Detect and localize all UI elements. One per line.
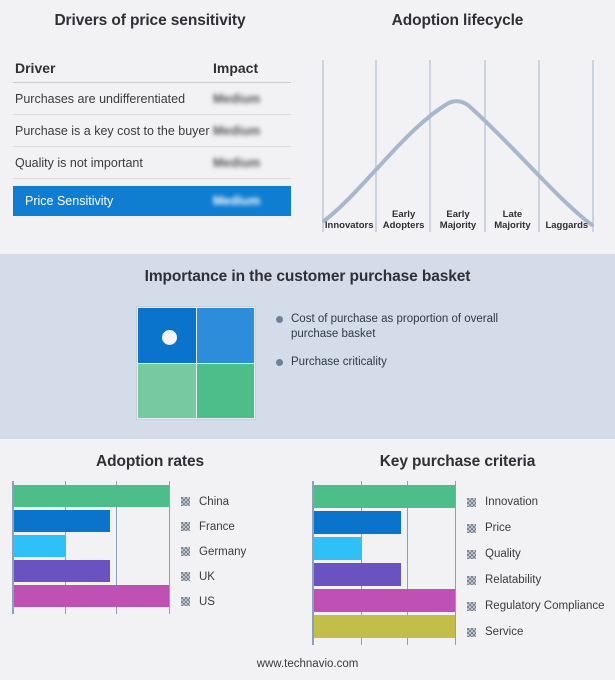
legend-swatch-icon: [467, 602, 476, 611]
basket-title: Importance in the customer purchase bask…: [0, 268, 615, 286]
legend-item[interactable]: Quality: [467, 541, 605, 567]
legend-item[interactable]: US: [181, 589, 288, 614]
bar[interactable]: [14, 510, 110, 532]
bar-row[interactable]: [314, 563, 455, 586]
key-purchase-criteria-title: Key purchase criteria: [300, 453, 615, 471]
legend-swatch-icon: [467, 628, 476, 637]
bar-row[interactable]: [14, 585, 169, 607]
legend-label: Price: [485, 522, 511, 534]
basket-legend-label: Purchase criticality: [291, 355, 387, 370]
legend-item[interactable]: Innovation: [467, 489, 605, 515]
legend-item[interactable]: Price: [467, 515, 605, 541]
bar[interactable]: [314, 615, 455, 638]
matrix-quadrant-bottom-left[interactable]: [138, 364, 196, 419]
cell-driver: Quality is not important: [15, 156, 213, 170]
bar-row[interactable]: [314, 589, 455, 612]
matrix-quadrant-top-left[interactable]: [138, 308, 196, 363]
bullet-dot-icon: [276, 316, 283, 323]
legend-label: Service: [485, 626, 523, 638]
bar[interactable]: [14, 560, 110, 582]
key-purchase-criteria-chart: InnovationPriceQualityRelatabilityRegula…: [312, 481, 604, 645]
lifecycle-stage-early-adopters: Early Adopters: [376, 198, 430, 232]
legend-label: Quality: [485, 548, 521, 560]
bar-row[interactable]: [314, 615, 455, 638]
drivers-title: Drivers of price sensitivity: [0, 12, 300, 30]
bar-row[interactable]: [14, 535, 169, 557]
legend-item[interactable]: Service: [467, 619, 605, 645]
legend-item[interactable]: France: [181, 514, 288, 539]
lifecycle-stage-late-majority: Late Majority: [485, 198, 539, 232]
lifecycle-stage-laggards: Laggards: [540, 198, 594, 232]
bar[interactable]: [314, 563, 401, 586]
bar[interactable]: [314, 511, 401, 534]
legend-item[interactable]: Regulatory Compliance: [467, 593, 605, 619]
legend-item[interactable]: UK: [181, 564, 288, 589]
legend-swatch-icon: [181, 522, 190, 531]
cell-driver: Price Sensitivity: [25, 194, 213, 208]
bar-row[interactable]: [314, 485, 455, 508]
legend-label: Germany: [199, 546, 246, 558]
legend-label: Innovation: [485, 496, 538, 508]
cell-impact: Medium: [213, 194, 289, 208]
adoption-rates-panel: Adoption rates ChinaFranceGermanyUKUS: [0, 439, 300, 680]
legend-label: Relatability: [485, 574, 541, 586]
legend-swatch-icon: [181, 572, 190, 581]
adoption-rates-chart: ChinaFranceGermanyUKUS: [12, 481, 288, 614]
bar-row[interactable]: [14, 560, 169, 582]
drivers-table: Driver Impact Purchases are undifferenti…: [13, 60, 291, 216]
bullet-dot-icon: [276, 359, 283, 366]
legend-swatch-icon: [467, 524, 476, 533]
key-purchase-criteria-panel: Key purchase criteria InnovationPriceQua…: [300, 439, 615, 680]
legend-item[interactable]: Germany: [181, 539, 288, 564]
bar-row[interactable]: [314, 537, 455, 560]
adoption-rates-title: Adoption rates: [0, 453, 300, 471]
basket-legend-item: Purchase criticality: [276, 355, 576, 370]
lifecycle-title: Adoption lifecycle: [300, 12, 615, 30]
bar[interactable]: [314, 485, 455, 508]
basket-matrix: [136, 306, 256, 420]
basket-matrix-grid: [138, 308, 254, 418]
matrix-quadrant-bottom-right[interactable]: [197, 364, 255, 419]
table-row[interactable]: Quality is not important Medium: [13, 147, 291, 179]
legend-swatch-icon: [467, 550, 476, 559]
basket-legend: Cost of purchase as proportion of overal…: [276, 312, 576, 384]
legend-label: France: [199, 521, 235, 533]
adoption-rates-legend: ChinaFranceGermanyUKUS: [169, 481, 288, 614]
lifecycle-stage-labels: Innovators Early Adopters Early Majority…: [322, 198, 594, 232]
basket-panel: Importance in the customer purchase bask…: [0, 254, 615, 439]
basket-legend-item: Cost of purchase as proportion of overal…: [276, 312, 576, 341]
cell-driver: Purchases are undifferentiated: [15, 92, 213, 106]
matrix-bubble-marker: [162, 330, 177, 345]
adoption-rates-bars: [14, 481, 169, 611]
legend-swatch-icon: [181, 597, 190, 606]
cell-impact: Medium: [213, 156, 289, 170]
lifecycle-panel: Adoption lifecycle Innovators Early Adop…: [300, 0, 615, 250]
table-row[interactable]: Purchases are undifferentiated Medium: [13, 83, 291, 115]
column-header-impact: Impact: [213, 60, 289, 76]
bar-row[interactable]: [14, 485, 169, 507]
legend-label: UK: [199, 571, 215, 583]
bar[interactable]: [314, 589, 455, 612]
bar[interactable]: [14, 485, 169, 507]
legend-item[interactable]: Relatability: [467, 567, 605, 593]
basket-legend-label: Cost of purchase as proportion of overal…: [291, 312, 521, 341]
table-row[interactable]: Purchase is a key cost to the buyer Medi…: [13, 115, 291, 147]
legend-swatch-icon: [181, 497, 190, 506]
footer-url[interactable]: www.technavio.com: [0, 658, 615, 670]
drivers-panel: Drivers of price sensitivity Driver Impa…: [0, 0, 300, 250]
key-purchase-criteria-legend: InnovationPriceQualityRelatabilityRegula…: [455, 481, 605, 645]
cell-impact: Medium: [213, 92, 289, 106]
bar-row[interactable]: [14, 510, 169, 532]
legend-label: China: [199, 496, 229, 508]
legend-swatch-icon: [467, 576, 476, 585]
legend-swatch-icon: [467, 498, 476, 507]
legend-label: US: [199, 596, 215, 608]
legend-label: Regulatory Compliance: [485, 600, 605, 612]
adoption-rates-plot: [12, 481, 169, 614]
bar[interactable]: [314, 537, 361, 560]
bar-row[interactable]: [314, 511, 455, 534]
key-purchase-criteria-bars: [314, 481, 455, 645]
table-row-highlighted[interactable]: Price Sensitivity Medium: [13, 186, 291, 216]
column-header-driver: Driver: [15, 60, 213, 76]
lifecycle-stage-early-majority: Early Majority: [431, 198, 485, 232]
bar[interactable]: [14, 535, 65, 557]
cell-impact: Medium: [213, 124, 289, 138]
cell-driver: Purchase is a key cost to the buyer: [15, 124, 213, 138]
bar[interactable]: [14, 585, 169, 607]
matrix-quadrant-top-right[interactable]: [197, 308, 255, 363]
table-header-row: Driver Impact: [13, 60, 291, 83]
legend-swatch-icon: [181, 547, 190, 556]
legend-item[interactable]: China: [181, 489, 288, 514]
lifecycle-stage-innovators: Innovators: [322, 198, 376, 232]
key-purchase-criteria-plot: [312, 481, 455, 645]
